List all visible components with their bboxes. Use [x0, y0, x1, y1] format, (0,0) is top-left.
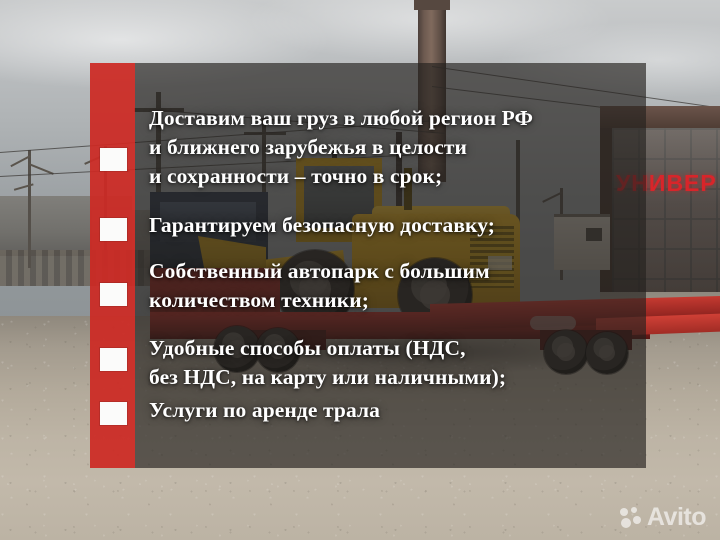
bullet-marker-2 [100, 218, 127, 241]
benefit-item-1: Доставим ваш груз в любой регион РФ и бл… [149, 104, 533, 191]
benefit-item-5: Услуги по аренде трала [149, 396, 380, 425]
bullet-marker-3 [100, 283, 127, 306]
benefit-item-4: Удобные способы оплаты (НДС, без НДС, на… [149, 334, 506, 392]
chimney-cap [414, 0, 450, 10]
avito-logo-icon [620, 507, 642, 529]
bullet-marker-1 [100, 148, 127, 171]
bare-tree-trunk [28, 150, 31, 268]
bullet-marker-5 [100, 402, 127, 425]
avito-watermark: Avito [620, 505, 706, 530]
bullet-marker-4 [100, 348, 127, 371]
benefit-list: Доставим ваш груз в любой регион РФ и бл… [149, 63, 649, 468]
benefit-item-3: Собственный автопарк с большим количеств… [149, 257, 490, 315]
advert-image: УНИВЕР [0, 0, 720, 540]
avito-watermark-label: Avito [647, 505, 706, 530]
benefit-item-2: Гарантируем безопасную доставку; [149, 211, 495, 240]
